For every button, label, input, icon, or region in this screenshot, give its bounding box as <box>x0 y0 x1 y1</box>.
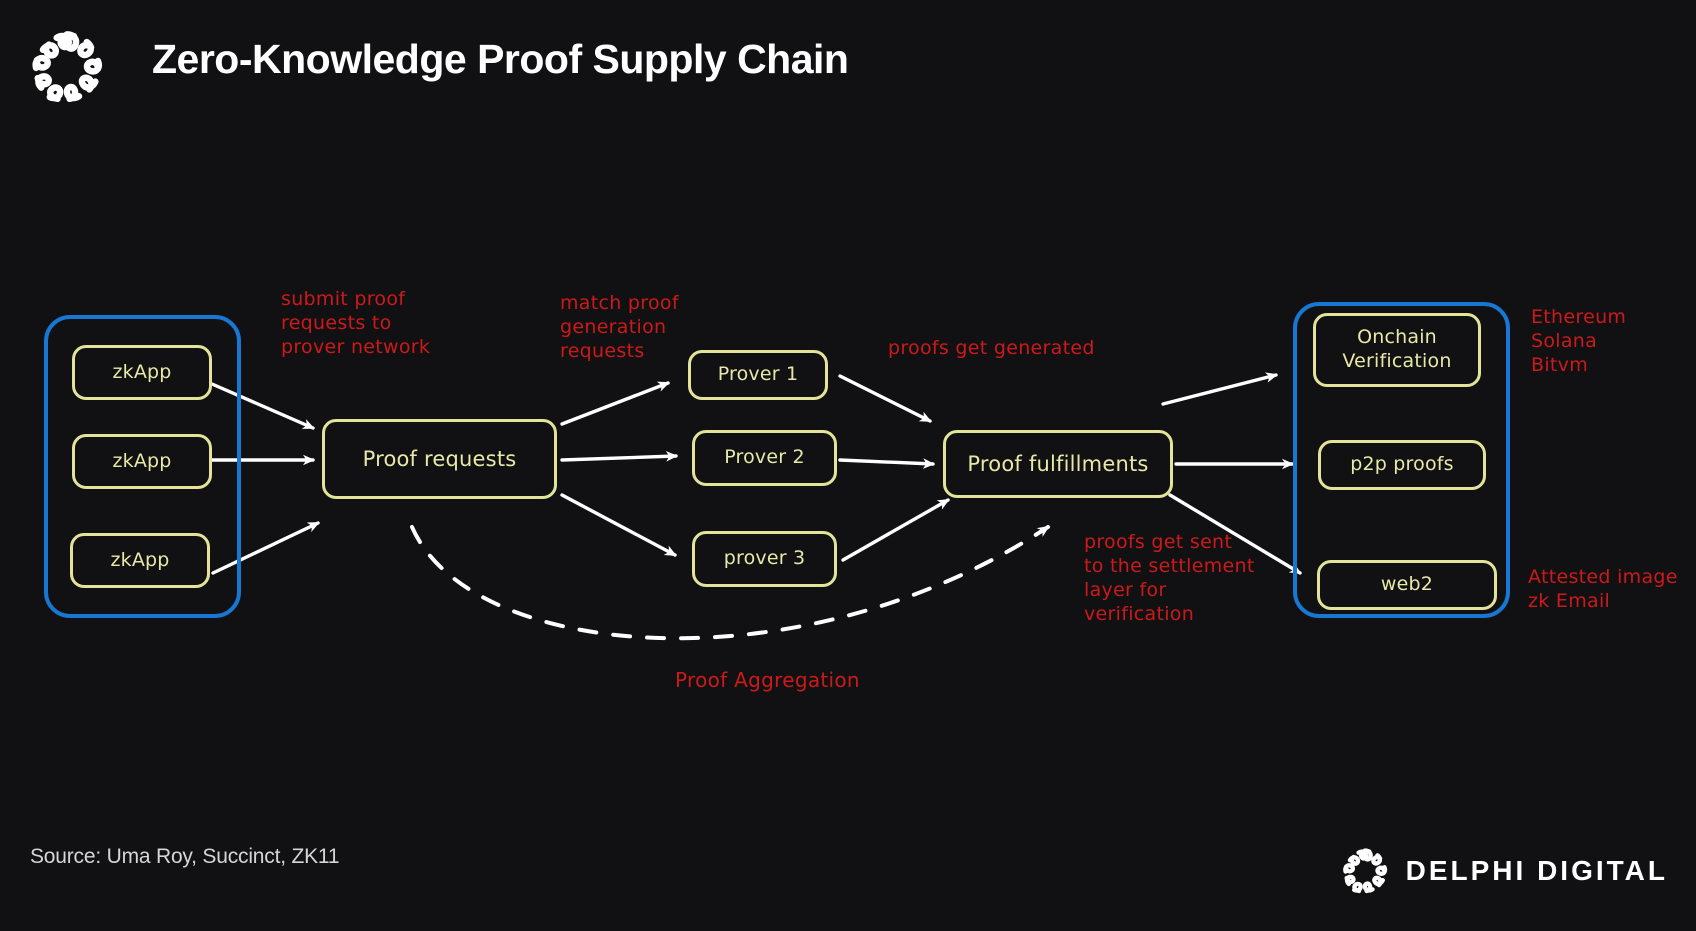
prover-1-label: Prover 1 <box>718 363 799 387</box>
proof-fulfillments-label: Proof fulfillments <box>967 451 1148 477</box>
brand-wordmark: DELPHI DIGITAL <box>1406 855 1668 887</box>
onchain-verification-label: Onchain Verification <box>1342 326 1451 374</box>
delphi-knot-logo-icon <box>1338 844 1392 898</box>
proof-fulfillments-box[interactable]: Proof fulfillments <box>943 430 1173 498</box>
annotation-proofs-get-generated: proofs get generated <box>888 336 1095 360</box>
proof-requests-label: Proof requests <box>363 446 517 472</box>
annotation-match-proof-generation: match proof generation requests <box>560 291 679 363</box>
prover-2-label: Prover 2 <box>724 446 805 470</box>
p2p-proofs-box[interactable]: p2p proofs <box>1318 440 1486 490</box>
zkapp-box-3[interactable]: zkApp <box>70 533 210 588</box>
zkapp-box-2[interactable]: zkApp <box>72 434 212 489</box>
diagram-canvas: Zero-Knowledge Proof Supply Chain <box>0 0 1696 931</box>
arrow-prover3-to-fulfillments <box>843 500 948 560</box>
annotation-proofs-get-sent: proofs get sent to the settlement layer … <box>1084 530 1255 627</box>
zkapp-box-1-label: zkApp <box>112 361 171 385</box>
annotation-attested-list: Attested image zk Email <box>1528 565 1678 613</box>
annotation-submit-proof-requests: submit proof requests to prover network <box>281 287 430 359</box>
onchain-verification-box[interactable]: Onchain Verification <box>1313 313 1481 387</box>
zkapp-box-1[interactable]: zkApp <box>72 345 212 400</box>
arrow-proof-requests-to-prover1 <box>562 383 668 424</box>
p2p-proofs-label: p2p proofs <box>1350 453 1454 477</box>
supply-chain-diagram: zkApp zkApp zkApp Proof requests Prover … <box>0 0 1696 931</box>
web2-label: web2 <box>1381 573 1433 597</box>
zkapp-box-2-label: zkApp <box>112 450 171 474</box>
annotation-chains-list: Ethereum Solana Bitvm <box>1531 305 1626 377</box>
arrow-proof-requests-to-prover3 <box>562 495 675 555</box>
arrow-fulfillments-to-onchain <box>1163 375 1276 404</box>
annotation-proof-aggregation: Proof Aggregation <box>675 668 860 693</box>
brand-lockup: DELPHI DIGITAL <box>1338 842 1668 900</box>
prover-1-box[interactable]: Prover 1 <box>688 350 828 400</box>
prover-3-box[interactable]: prover 3 <box>692 531 837 587</box>
source-caption: Source: Uma Roy, Succinct, ZK11 <box>30 845 339 869</box>
arrow-proof-requests-to-prover2 <box>562 456 676 460</box>
prover-3-label: prover 3 <box>724 547 806 571</box>
proof-requests-box[interactable]: Proof requests <box>322 419 557 499</box>
prover-2-box[interactable]: Prover 2 <box>692 430 837 486</box>
arrow-prover1-to-fulfillments <box>840 376 930 421</box>
zkapp-box-3-label: zkApp <box>110 549 169 573</box>
web2-box[interactable]: web2 <box>1317 560 1497 610</box>
arrow-prover2-to-fulfillments <box>840 460 933 464</box>
